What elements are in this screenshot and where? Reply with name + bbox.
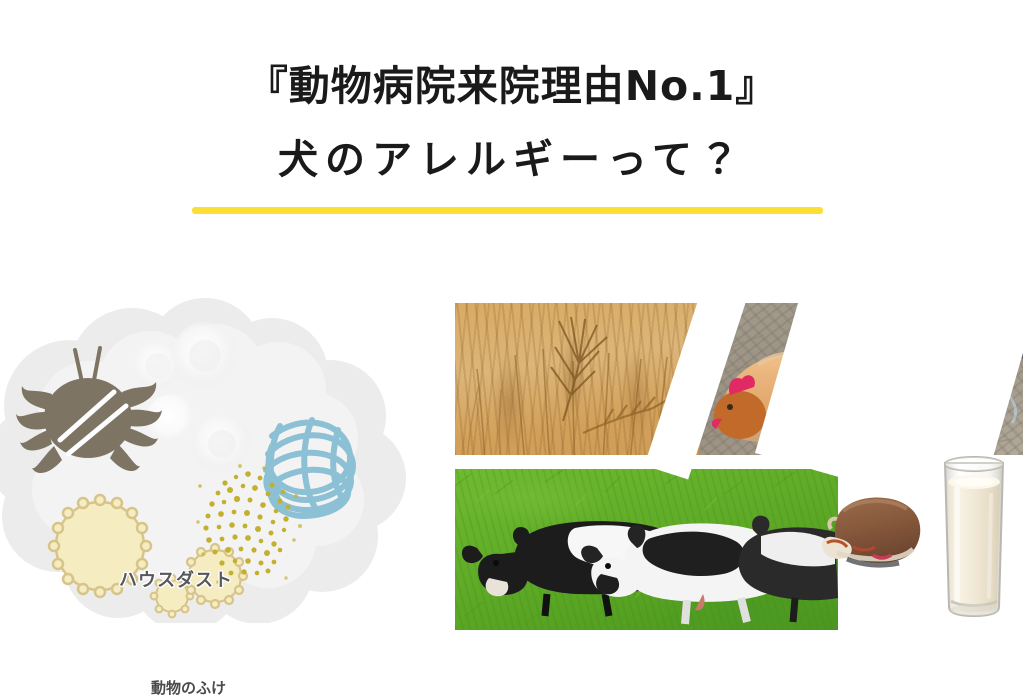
dairy-cows — [455, 466, 838, 630]
meat-cut-photo — [813, 485, 928, 580]
page-subtitle: 犬のアレルギーって？ — [0, 140, 1024, 180]
house-dust-illustration: ハウスダスト ダニ （ハウスダストマイト） 動物のふけ 糸くず 花粉、カビ 砂ぼ… — [0, 278, 420, 623]
slide-canvas: 『動物病院来院理由No.1』 犬のアレルギーって？ — [0, 0, 1024, 695]
title-underline — [192, 207, 823, 214]
dust-cloud-title: ハウスダスト — [119, 566, 233, 592]
dander-label: 動物のふけ — [151, 677, 226, 695]
page-title: 『動物病院来院理由No.1』 — [0, 66, 1024, 107]
allergen-photo-collage — [455, 303, 1023, 630]
milk-glass-photo — [933, 455, 1015, 620]
dairy-cows-photo — [455, 466, 838, 630]
